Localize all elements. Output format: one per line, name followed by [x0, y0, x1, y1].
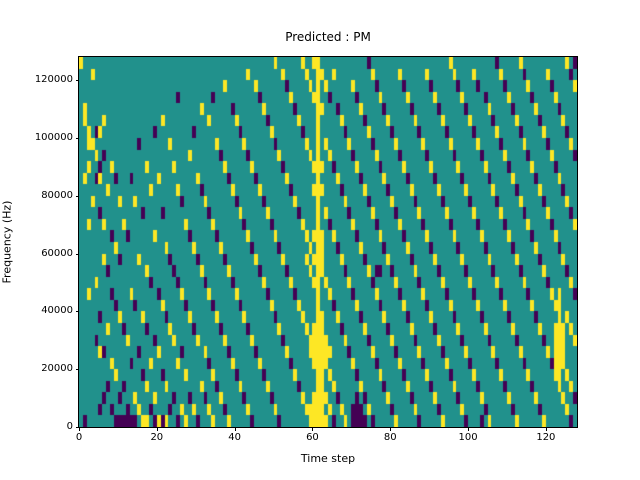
y-tick-label: 0 [67, 422, 73, 432]
x-tick-label: 40 [228, 433, 241, 443]
x-tick-label: 80 [384, 433, 397, 443]
x-tick-mark [157, 427, 158, 431]
page-title: Predicted : PM [79, 30, 577, 44]
x-tick-mark [312, 427, 313, 431]
x-tick-label: 20 [150, 433, 163, 443]
x-tick-label: 60 [306, 433, 319, 443]
y-tick-label: 80000 [41, 191, 73, 201]
heatmap-axes [78, 56, 578, 428]
x-axis-label: Time step [79, 452, 577, 465]
y-tick-label: 120000 [35, 75, 73, 85]
heatmap-image [79, 57, 577, 427]
matplotlib-figure: Predicted : PM Frequency (Hz) 0200004000… [0, 0, 640, 480]
x-tick-mark [468, 427, 469, 431]
x-tick-mark [79, 427, 80, 431]
y-tick-label: 100000 [35, 133, 73, 143]
x-tick-label: 120 [536, 433, 555, 443]
x-tick-label: 0 [76, 433, 82, 443]
x-tick-mark [546, 427, 547, 431]
y-tick-label: 60000 [41, 249, 73, 259]
x-tick-mark [235, 427, 236, 431]
y-tick-label: 40000 [41, 306, 73, 316]
x-tick-label: 100 [459, 433, 478, 443]
y-tick-label: 20000 [41, 364, 73, 374]
x-tick-mark [390, 427, 391, 431]
y-axis-ticks: 020000400006000080000100000120000 [0, 57, 79, 427]
